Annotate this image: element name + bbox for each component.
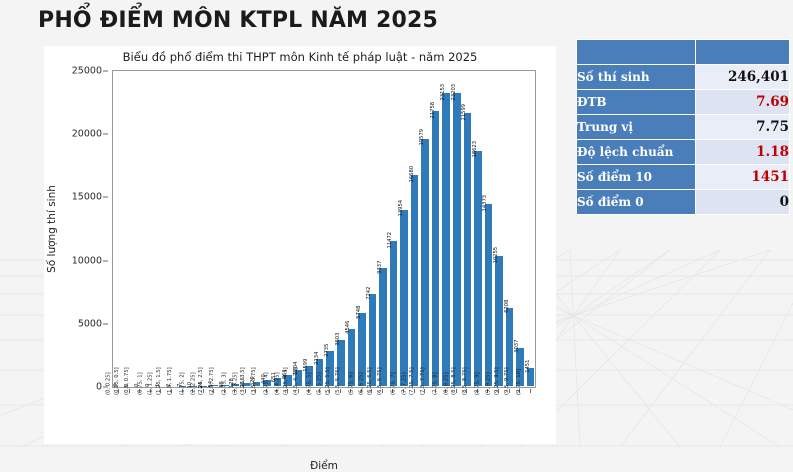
bar-series: 0000127102454851282163294406518611304159… [114,70,536,386]
x-axis-tick-label: (0, 0.25] [107,372,112,395]
x-axis-tick-mark [530,389,531,393]
bar-slot: 440 [262,70,273,386]
x-axis-tick-label: (7.5, 7.75] [421,367,426,395]
bar-value-label: 6208 [504,300,509,313]
x-axis-tick-label: (1.75, 2] [181,372,186,395]
score-distribution-chart: Biểu đồ phổ điểm thi THPT môn Kinh tế ph… [44,46,556,444]
x-axis-tick-label: (6.75, 7] [392,372,397,395]
bar-slot: 2 [167,70,178,386]
bar-slot: 14373 [483,70,494,386]
bar[interactable]: 23203 [453,93,461,386]
x-axis-tick-label: (6.5, 6.75] [379,367,384,395]
stats-row-value: 1.18 [696,140,789,164]
y-axis-tick-label: 5000 [78,318,102,329]
bar-value-label: 23153 [441,84,446,101]
bar-slot: 13954 [399,70,410,386]
x-axis-tick-label: (6.25, 6.5] [368,367,373,395]
stats-row-value: 246,401 [696,65,789,89]
plot-wrapper: 0000127102454851282163294406518611304159… [112,70,536,388]
x-axis-tick-label: (8.75, 9] [476,372,481,395]
bar-value-label: 21758 [430,102,435,119]
x-axis-tick-label: (5.75, 6] [350,372,355,395]
x-axis-tick: (4.25, 4.5] [292,389,303,455]
x-axis-label: Điểm [112,460,536,472]
summary-statistics-table: Số thí sinh246,401ĐTB7.69Trung vị7.75Độ … [576,39,790,215]
bar[interactable]: 21758 [432,111,440,386]
bar-slot: 54 [209,70,220,386]
y-axis-tick-mark [103,71,108,72]
x-axis-tick-label: (5.25, 5.5] [326,367,331,395]
bar-value-label: 3603 [336,333,341,346]
bar[interactable]: 16680 [411,175,419,386]
stats-table-body: Số thí sinh246,401ĐTB7.69Trung vị7.75Độ … [577,40,789,214]
bar-value-label: 14373 [483,195,488,212]
x-axis-tick: (8, 8.25] [451,389,462,455]
bar-slot: 0 [114,70,125,386]
x-axis-tick-label: (3.25, 3.5] [242,367,247,395]
x-axis-tick-label: (1, 1.25] [149,372,154,395]
bar-slot: 10255 [494,70,505,386]
stats-table-row: Trung vị7.75 [577,115,789,139]
bar[interactable]: 11472 [390,241,398,386]
bar-slot: 651 [272,70,283,386]
x-axis-tick: (3, 3.25] [240,389,251,455]
bar-slot: 6208 [504,70,515,386]
bar-slot: 85 [219,70,230,386]
bar-slot: 1451 [525,70,536,386]
x-axis-tick-label: (9.5, 9.75] [505,367,510,395]
stats-table-header-row [577,40,789,64]
bar[interactable]: 13954 [400,210,408,386]
x-axis-tick: (2.5, 2.75] [218,389,229,455]
plot-area: 0000127102454851282163294406518611304159… [112,70,536,388]
stats-table-row: Độ lệch chuẩn1.18 [577,140,789,164]
x-axis-tick: (7.75, 8] [440,389,451,455]
x-axis-tick-label: (1.25, 1.5] [157,367,162,395]
x-axis-tick: (6.75, 7] [398,389,409,455]
x-axis-tick-label: (9.75, 10] [517,369,522,395]
stats-table-row: Số thí sinh246,401 [577,65,789,89]
y-axis-label: Số lượng thí sinh [46,185,58,273]
x-axis-tick: (5.25, 5.5] [334,389,345,455]
x-axis-tick-label: (4.5, 4.75] [294,367,299,395]
stats-table-row: ĐTB7.69 [577,90,789,114]
x-axis-tick-label: (8, 8.25] [444,372,449,395]
x-axis-tick: (2, 2.25] [197,389,208,455]
bar-slot: 5748 [357,70,368,386]
y-axis-tick-mark [103,260,108,261]
bar-value-label: 13954 [399,200,404,217]
bar-slot: 9337 [378,70,389,386]
x-axis-tick: (4, 4.25] [282,389,293,455]
bar-slot: 329 [251,70,262,386]
bar-value-label: 19579 [420,129,425,146]
x-axis-tick-label: (5, 5.25] [318,372,323,395]
x-axis-tick: (0.5, 0.75] [134,389,145,455]
x-axis-tick: (2.75, 3] [229,389,240,455]
bar-value-label: 21599 [462,104,467,121]
bar-slot: 861 [283,70,294,386]
stats-row-label: Độ lệch chuẩn [577,140,695,164]
y-axis-tick-mark [103,323,108,324]
x-axis-tick: (1.5, 1.75] [176,389,187,455]
stats-row-value: 7.75 [696,115,789,139]
stats-row-value: 7.69 [696,90,789,114]
bar[interactable]: 21599 [464,113,472,386]
bar-slot: 4546 [346,70,357,386]
x-axis-tick: (9, 9.25] [493,389,504,455]
x-axis-tick: (0.75, 1] [145,389,156,455]
bar-slot: 216 [241,70,252,386]
x-axis-tick-label: (3.75, 4] [265,372,270,395]
bar-slot: 128 [230,70,241,386]
bar-slot: 11472 [388,70,399,386]
bar-slot: 7242 [367,70,378,386]
stats-header-cell-value [696,40,789,64]
bar[interactable]: 1451 [527,368,535,386]
bar-slot: 1 [156,70,167,386]
x-axis-tick: (8.5, 8.75] [472,389,483,455]
bar[interactable]: 23153 [442,93,450,386]
bar-value-label: 9337 [378,260,383,273]
x-axis-tick-label: (6, 6.25] [360,372,365,395]
x-axis-tick-label: (2.75, 3] [223,372,228,395]
x-axis-tick-label: (0.25, 0.5] [115,367,120,395]
x-axis-tick: (0.25, 0.5] [124,389,135,455]
x-axis-tick-label: (4.75, 5] [307,372,312,395]
stats-row-label: Số thí sinh [577,65,695,89]
y-axis-tick-label: 10000 [72,255,102,266]
bar-slot: 0 [125,70,136,386]
stats-row-value: 1451 [696,165,789,189]
y-axis-tick-label: 25000 [72,66,102,77]
x-axis-tick-label: (7.75, 8] [434,372,439,395]
bar-slot: 16680 [409,70,420,386]
x-axis-tick-label: (3.5, 3.75] [252,367,257,395]
x-axis-tick: (6.25, 6.5] [377,389,388,455]
y-axis-tick-mark [103,134,108,135]
x-axis-tick-label: (5.5, 5.75] [336,367,341,395]
x-axis-ticks: (0, 0.25](0.25, 0.5](0.5, 0.75](0.75, 1]… [113,389,535,455]
x-axis-tick: (1.75, 2] [187,389,198,455]
x-axis-tick-label: (9.25, 9.5] [495,367,500,395]
bar[interactable]: 14373 [485,204,493,386]
bar-slot: 7 [177,70,188,386]
stats-header-cell-label [577,40,695,64]
bar-value-label: 2134 [314,351,319,364]
bar-slot: 1599 [304,70,315,386]
stats-table-row: Số điểm 101451 [577,165,789,189]
bar-slot: 18623 [473,70,484,386]
chart-title: Biểu đồ phổ điểm thi THPT môn Kinh tế ph… [44,50,556,64]
x-axis-tick: (9.75, 10] [524,389,535,455]
x-axis-tick: (8.75, 9] [482,389,493,455]
bar-value-label: 23203 [452,83,457,100]
x-axis-tick: (6.5, 6.75] [387,389,398,455]
bar-slot: 23153 [441,70,452,386]
bar-slot: 21758 [430,70,441,386]
bar-value-label: 18623 [473,141,478,158]
stats-row-label: Trung vị [577,115,695,139]
x-axis-tick: (4.75, 5] [313,389,324,455]
x-axis-tick-label: (9, 9.25] [487,372,492,395]
bar-value-label: 1599 [304,358,309,371]
x-axis-tick: (3.25, 3.5] [250,389,261,455]
x-axis-tick: (1.25, 1.5] [166,389,177,455]
bar[interactable]: 18623 [474,151,482,386]
x-axis-tick-label: (7.25, 7.5] [410,367,415,395]
bar-value-label: 7242 [367,287,372,300]
x-axis-tick-label: (1.5, 1.75] [168,367,173,395]
bar-slot: 2134 [314,70,325,386]
x-axis-tick-label: (7, 7.25] [402,372,407,395]
bar-slot: 3037 [515,70,526,386]
x-axis-tick: (7.25, 7.5] [419,389,430,455]
bar-value-label: 1451 [525,360,530,373]
x-axis-tick-label: (4.25, 4.5] [284,367,289,395]
bar-value-label: 4546 [346,321,351,334]
x-axis-tick: (1, 1.25] [155,389,166,455]
x-axis-tick: (3.5, 3.75] [261,389,272,455]
x-axis-tick-label: (0.75, 1] [139,372,144,395]
page-title: PHỔ ĐIỂM MÔN KTPL NĂM 2025 [38,8,438,33]
x-axis-tick-label: (2.5, 2.75] [210,367,215,395]
x-axis-tick-label: (8.5, 8.75] [463,367,468,395]
x-axis-tick: (0, 0.25] [113,389,124,455]
x-axis-tick: (3.75, 4] [271,389,282,455]
stats-row-label: Số điểm 10 [577,165,695,189]
bar-slot: 10 [188,70,199,386]
x-axis-tick-label: (4, 4.25] [276,372,281,395]
x-axis-tick: (8.25, 8.5] [461,389,472,455]
y-axis-tick-label: 0 [96,382,102,393]
x-axis-tick: (2.25, 2.5] [208,389,219,455]
bar-value-label: 16680 [409,166,414,183]
stats-row-value: 0 [696,190,789,214]
x-axis-tick: (5, 5.25] [324,389,335,455]
stats-row-label: Số điểm 0 [577,190,695,214]
bar-value-label: 5748 [357,306,362,319]
stats-row-label: ĐTB [577,90,695,114]
bar-slot: 24 [198,70,209,386]
bar-value-label: 2735 [325,344,330,357]
bar-slot: 1304 [293,70,304,386]
stats-table-row: Số điểm 00 [577,190,789,214]
x-axis-tick: (9.5, 9.75] [514,389,525,455]
x-axis-tick: (5.75, 6] [356,389,367,455]
x-axis-tick-label: (2.25, 2.5] [199,367,204,395]
y-axis-tick-mark [103,197,108,198]
bar-slot: 3603 [335,70,346,386]
x-axis-tick: (7.5, 7.75] [429,389,440,455]
bar-value-label: 10255 [494,247,499,264]
bar-value-label: 11472 [388,232,393,249]
bar-slot: 0 [135,70,146,386]
x-axis-tick: (7, 7.25] [408,389,419,455]
x-axis-tick: (5.5, 5.75] [345,389,356,455]
y-axis-tick-label: 15000 [72,192,102,203]
y-axis-tick-label: 20000 [72,129,102,140]
x-axis-tick-label: (2, 2.25] [191,372,196,395]
bar[interactable]: 19579 [421,139,429,386]
x-axis-tick: (9.25, 9.5] [503,389,514,455]
x-axis-tick-label: (8.25, 8.5] [452,367,457,395]
x-axis-tick-label: (0.5, 0.75] [126,367,131,395]
bar-slot: 21599 [462,70,473,386]
bar-slot: 0 [146,70,157,386]
x-axis-tick: (6, 6.25] [366,389,377,455]
x-axis-tick: (4.5, 4.75] [303,389,314,455]
x-axis-tick-label: (3, 3.25] [233,372,238,395]
bar-value-label: 3037 [515,340,520,353]
